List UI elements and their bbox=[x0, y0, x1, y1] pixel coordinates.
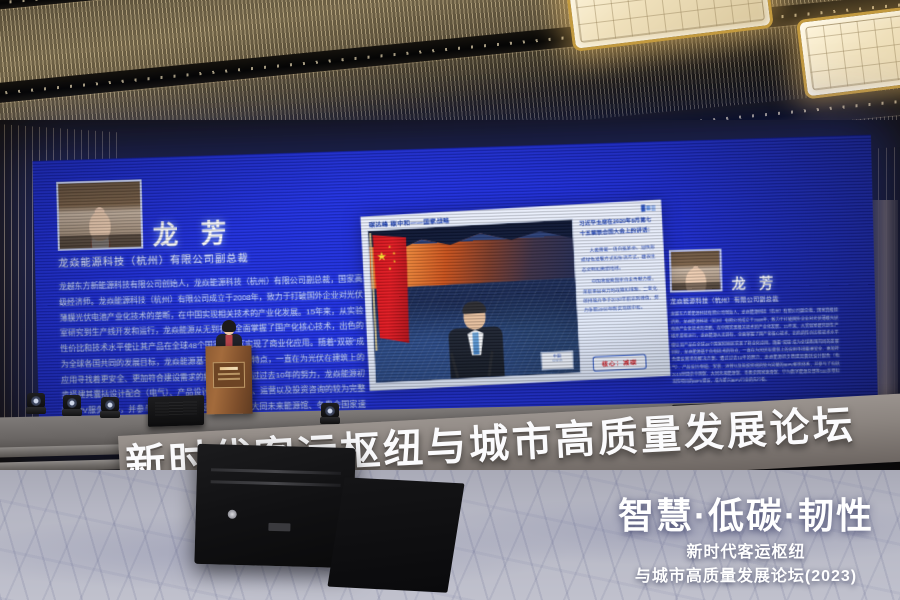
watermark-main: 智慧·低碳·韧性 bbox=[618, 496, 874, 536]
speaker-name: 龙 芳 bbox=[732, 276, 779, 291]
podium-plaque bbox=[213, 362, 245, 389]
slide-video-frame: ★★ ★★ ★ 中国 CHINA bbox=[367, 219, 581, 384]
quote-heading: 习近平主席在2020年9月第七十五届联合国大会上的讲话： bbox=[579, 216, 657, 239]
led-video-wall: 龙 芳 龙焱能源科技（杭州）有限公司副总裁 龙越东方新能源科技有限公司创始人，龙… bbox=[32, 135, 877, 419]
speaker-header: 龙 芳 bbox=[56, 173, 361, 251]
core-badge: 核心：减碳 bbox=[592, 354, 646, 372]
speaker-title: 龙焱能源科技（杭州）有限公司副总裁 bbox=[670, 293, 838, 306]
watermark-subtitle-line2: 与城市高质量发展论坛(2023) bbox=[618, 562, 874, 586]
moving-head-light-icon bbox=[26, 388, 46, 414]
moving-head-light-icon bbox=[320, 398, 340, 424]
monitor-logo-icon bbox=[227, 509, 236, 518]
presentation-slide: 碳达峰 碳中和——国家战略 ★★ ★★ ★ bbox=[360, 200, 670, 391]
monitor-drape-cover bbox=[327, 477, 464, 593]
country-nameplate: 中国 CHINA bbox=[541, 351, 574, 371]
slide-logo-icon bbox=[641, 204, 656, 212]
speaker-title: 龙焱能源科技（杭州）有限公司副总裁 bbox=[58, 247, 362, 270]
speaker-name: 龙 芳 bbox=[152, 220, 234, 248]
conference-photo-scene: 龙 芳 龙焱能源科技（杭州）有限公司副总裁 龙越东方新能源科技有限公司创始人，龙… bbox=[0, 0, 900, 600]
quote-paragraph: 中国将提高国家自主贡献力度，采取更加有力的政策和措施，二氧化碳排放力争于2030… bbox=[582, 274, 661, 316]
speaking-podium bbox=[205, 346, 252, 415]
speaker-header: 龙 芳 bbox=[669, 245, 838, 292]
stage-floor-monitor bbox=[148, 395, 204, 427]
quote-body: 人类需要一场自我革命，加快形成绿色发展方式和生活方式，建设生态文明和美丽地球。 … bbox=[580, 242, 661, 315]
speaker-bio: 龙越东方新能源科技有限公司创始人，龙焱能源科技（杭州）有限公司副总裁，国家高级经… bbox=[671, 307, 840, 387]
quote-paragraph: 人类需要一场自我革命，加快形成绿色发展方式和生活方式，建设生态文明和美丽地球。 bbox=[580, 242, 658, 275]
nameplate-en: CHINA bbox=[542, 358, 572, 364]
speaker-profile-right: 龙 芳 龙焱能源科技（杭州）有限公司副总裁 龙越东方新能源科技有限公司创始人，龙… bbox=[669, 245, 840, 386]
speaker-photo bbox=[669, 249, 723, 293]
foreground-display-monitor bbox=[194, 444, 355, 568]
speaker-photo bbox=[56, 179, 143, 250]
moving-head-light-icon bbox=[100, 392, 120, 418]
event-watermark: 智慧·低碳·韧性 新时代客运枢纽 与城市高质量发展论坛(2023) bbox=[618, 496, 874, 586]
moving-head-light-icon bbox=[62, 390, 82, 416]
slide-quote-block: 习近平主席在2020年9月第七十五届联合国大会上的讲话： 人类需要一场自我革命，… bbox=[579, 216, 661, 319]
watermark-subtitle-line1: 新时代客运枢纽 bbox=[618, 538, 874, 562]
